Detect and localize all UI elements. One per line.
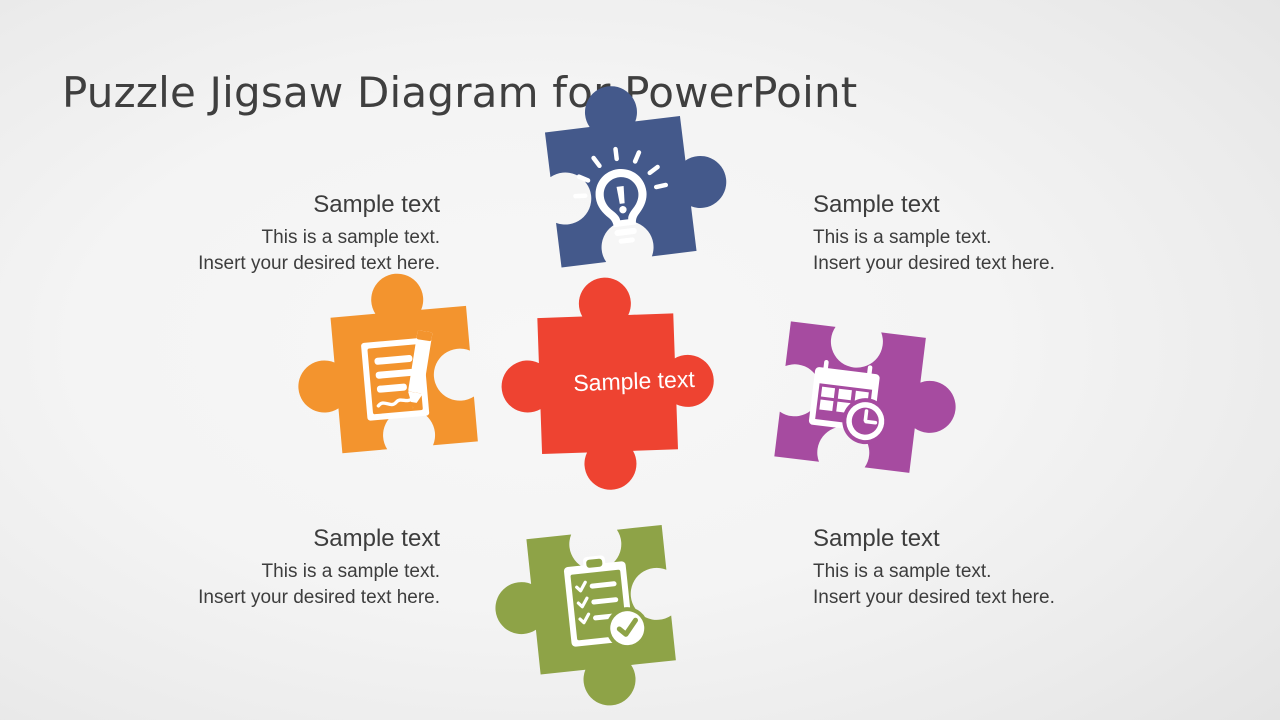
slide-canvas: Puzzle Jigsaw Diagram for PowerPoint <box>0 0 1280 720</box>
text-block-top-left: Sample text This is a sample text. Inser… <box>140 190 440 277</box>
text-block-line-2: Insert your desired text here. <box>813 251 1113 277</box>
text-block-title: Sample text <box>140 190 440 220</box>
text-block-top-right: Sample text This is a sample text. Inser… <box>813 190 1113 277</box>
puzzle-piece-center-red[interactable] <box>500 275 760 525</box>
text-block-line-2: Insert your desired text here. <box>140 251 440 277</box>
text-block-line-1: This is a sample text. <box>140 559 440 585</box>
text-block-bottom-left: Sample text This is a sample text. Inser… <box>140 524 440 611</box>
puzzle-piece-bottom-green[interactable]: clipboard-check-icon <box>492 492 752 720</box>
text-block-line-2: Insert your desired text here. <box>140 585 440 611</box>
text-block-line-1: This is a sample text. <box>813 559 1113 585</box>
text-block-title: Sample text <box>813 190 1113 220</box>
text-block-line-1: This is a sample text. <box>813 225 1113 251</box>
puzzle-piece-right-purple[interactable]: calendar-clock-icon <box>745 295 995 545</box>
text-block-title: Sample text <box>140 524 440 554</box>
text-block-title: Sample text <box>813 524 1113 554</box>
text-block-line-2: Insert your desired text here. <box>813 585 1113 611</box>
text-block-line-1: This is a sample text. <box>140 225 440 251</box>
text-block-bottom-right: Sample text This is a sample text. Inser… <box>813 524 1113 611</box>
